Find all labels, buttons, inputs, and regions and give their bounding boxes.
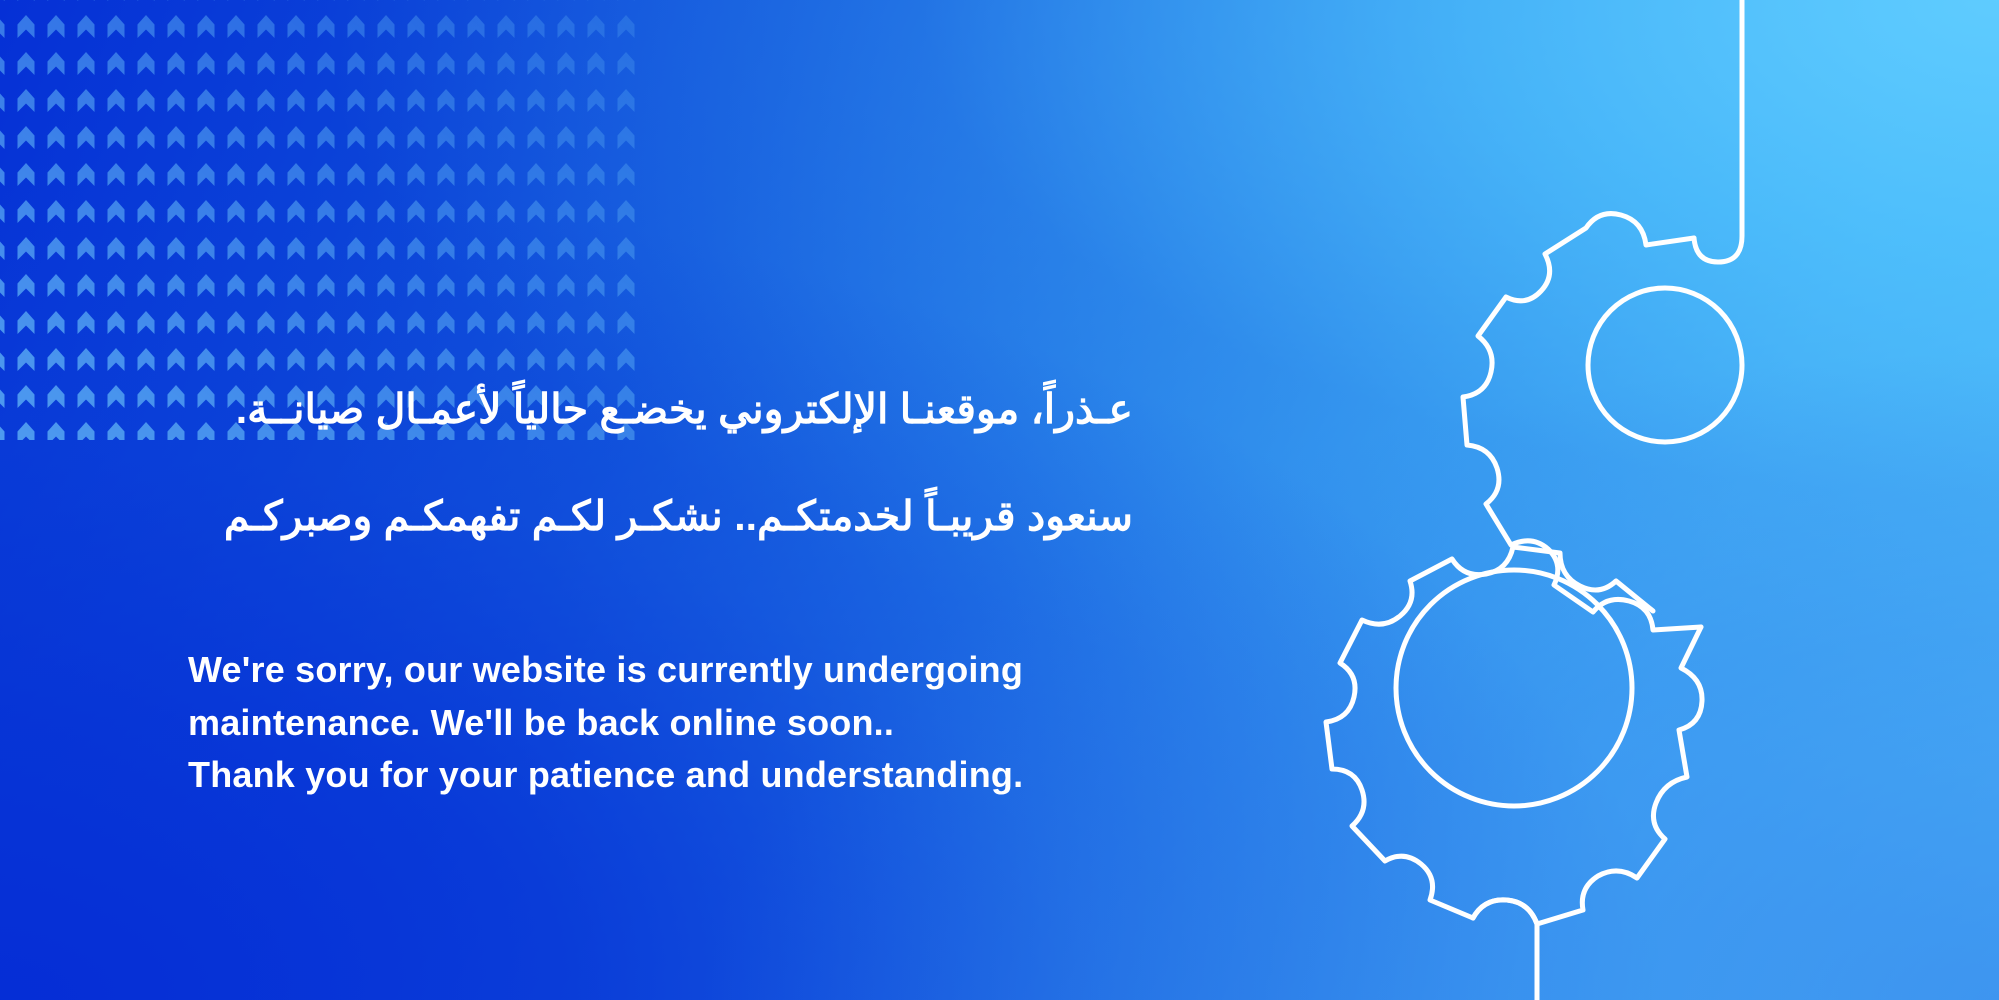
arabic-line-2: سنعود قريبـاً لخدمتكـم.. نشكـر لكـم تفهم… — [188, 490, 1133, 543]
english-line-2: maintenance. We'll be back online soon.. — [188, 697, 1168, 749]
english-message: We're sorry, our website is currently un… — [188, 644, 1168, 801]
arabic-line-1: عـذراً، موقعنـا الإلكتروني يخضـع حالياً … — [188, 383, 1133, 436]
maintenance-page: عـذراً، موقعنـا الإلكتروني يخضـع حالياً … — [0, 0, 1999, 1000]
message-block: عـذراً، موقعنـا الإلكتروني يخضـع حالياً … — [188, 330, 1168, 801]
english-line-3: Thank you for your patience and understa… — [188, 749, 1168, 801]
english-line-1: We're sorry, our website is currently un… — [188, 644, 1168, 696]
arabic-message: عـذراً، موقعنـا الإلكتروني يخضـع حالياً … — [188, 330, 1133, 596]
